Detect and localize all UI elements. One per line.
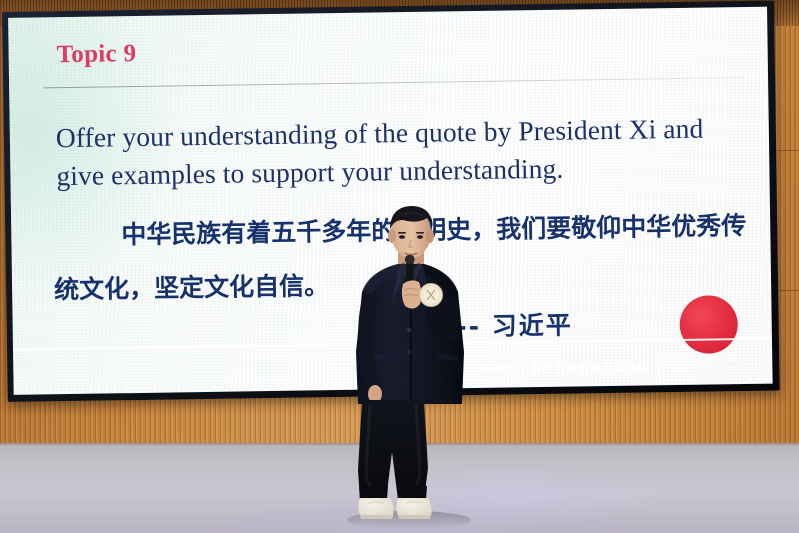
english-prompt-text: Offer your understanding of the quote by… — [56, 109, 747, 195]
screen-bezel: Topic 9 Offer your understanding of the … — [2, 1, 780, 402]
floor-light-reflection — [300, 455, 720, 533]
publisher-branding: 外研社 · 高等英语教育出版分社 推动科研 · 服务教学 · 促进创新 heep… — [481, 356, 751, 377]
presentation-screen: Topic 9 Offer your understanding of the … — [2, 1, 780, 402]
slide-canvas: Topic 9 Offer your understanding of the … — [8, 7, 773, 395]
page-title: Topic 9 — [56, 40, 136, 69]
screenshot-root: Topic 9 Offer your understanding of the … — [0, 0, 799, 533]
floor-wall-edge — [0, 443, 799, 446]
branding-secondary: 推动科研 · 服务教学 · 促进创新 heep.unipus.cn — [667, 357, 750, 373]
chinese-quote-text: 中华民族有着五千多年的文明史，我们要敬仰中华优秀传统文化，坚定文化自信。 — [53, 199, 755, 317]
publisher-url: heep.unipus.cn — [668, 364, 751, 373]
title-divider — [43, 77, 745, 88]
branding-divider — [657, 357, 658, 374]
publisher-name: 外研社 · 高等英语教育出版分社 — [481, 358, 649, 376]
